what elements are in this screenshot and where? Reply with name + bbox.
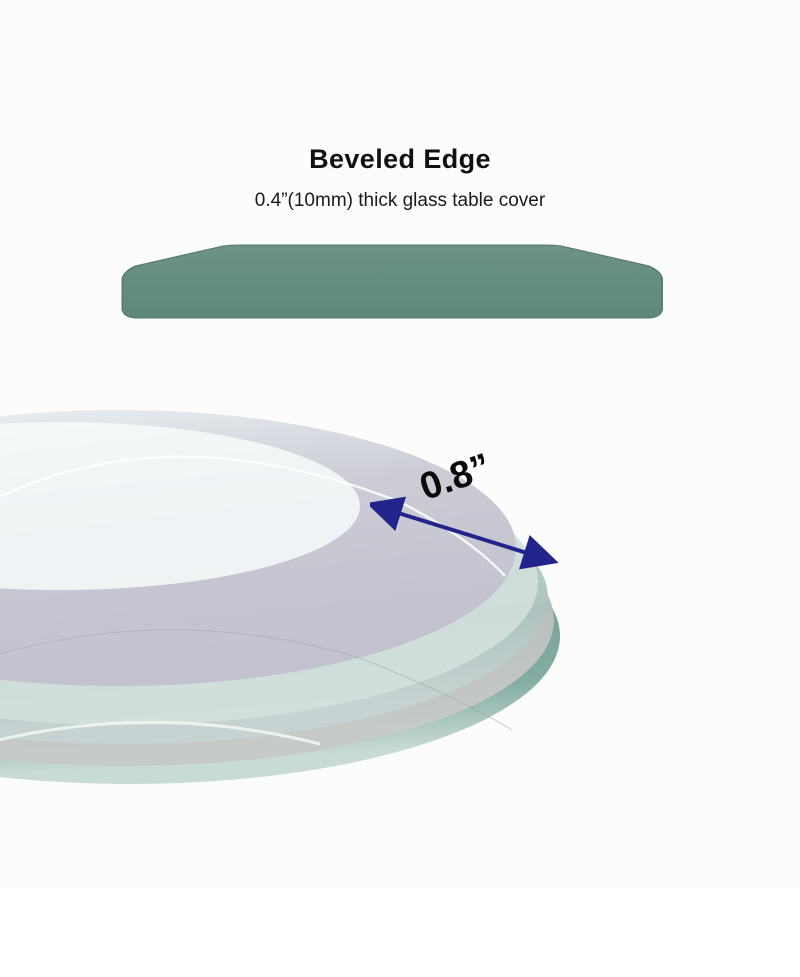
bevel-dimension-annotation: 0.8” — [370, 462, 570, 572]
bevel-width-arrow — [395, 512, 530, 554]
glass-table-photo — [0, 398, 620, 798]
product-image-canvas: Beveled Edge 0.4”(10mm) thick glass tabl… — [0, 0, 800, 977]
page-subtitle: 0.4”(10mm) thick glass table cover — [0, 188, 800, 214]
heading-block: Beveled Edge 0.4”(10mm) thick glass tabl… — [0, 142, 800, 214]
cross-section-slab — [122, 245, 662, 318]
beveled-edge-cross-section-diagram — [70, 238, 720, 330]
page-title: Beveled Edge — [0, 142, 800, 176]
